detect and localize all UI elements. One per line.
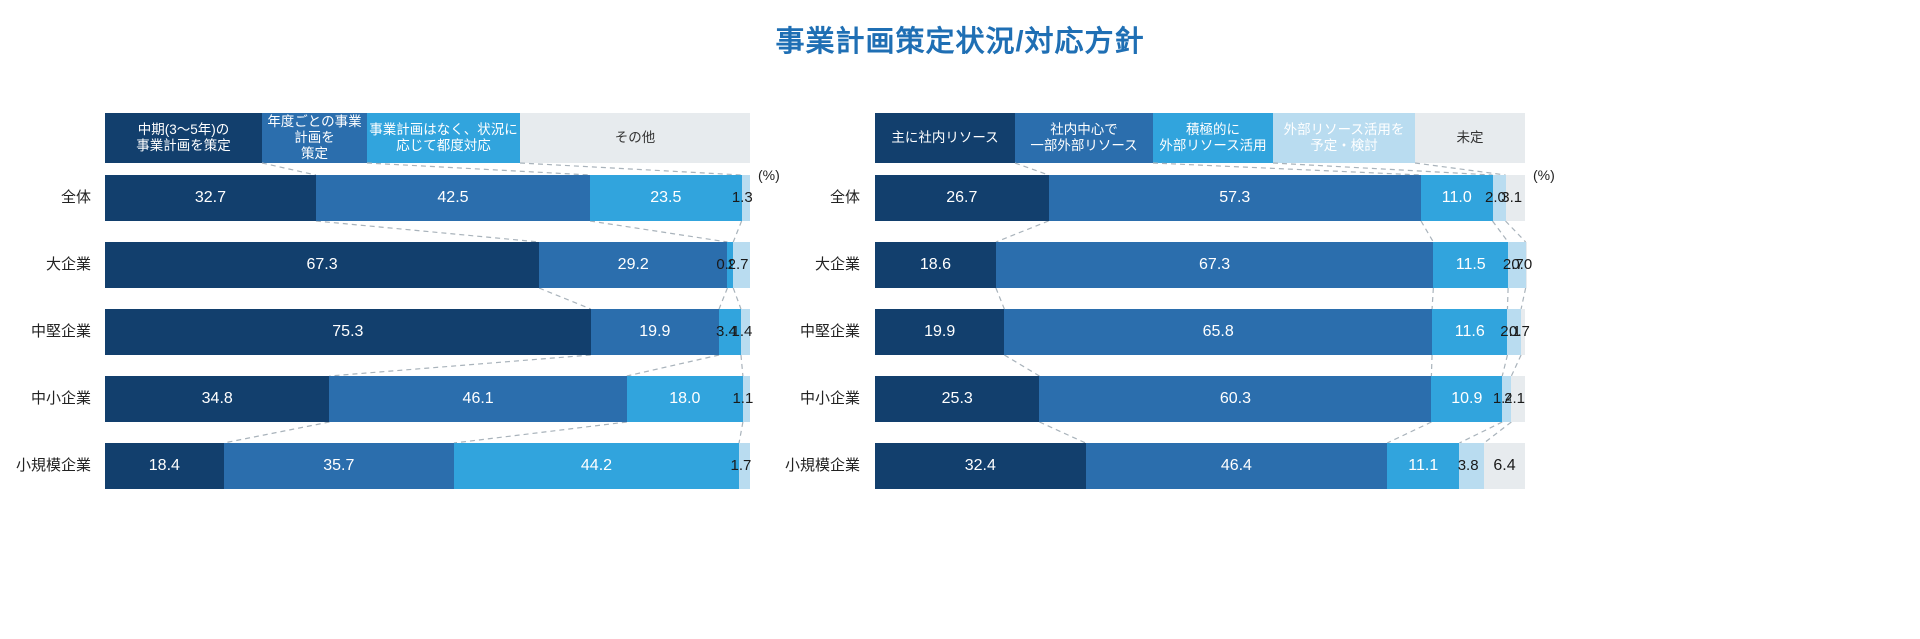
bar-value-label: 32.4: [965, 457, 996, 475]
bar-segment: 46.1: [329, 376, 626, 422]
bar-segment: 32.4: [875, 443, 1086, 489]
bar-value-label: 2.1: [1504, 390, 1525, 407]
bar-segment: 65.8: [1004, 309, 1432, 355]
bar-segment: 18.4: [105, 443, 224, 489]
bar-segment: 0.0: [1526, 242, 1527, 288]
chart-panel-right: 主に社内リソース社内中心で一部外部リソース積極的に外部リソース活用外部リソース活…: [830, 100, 1920, 520]
bar-segment: 67.3: [105, 242, 539, 288]
bar-value-label: 23.5: [650, 189, 681, 207]
bar-segment: 2.1: [1511, 376, 1525, 422]
bar-value-label: 6.4: [1493, 457, 1515, 475]
bar-value-label: 44.2: [581, 457, 612, 475]
bar-segment: 57.3: [1049, 175, 1421, 221]
bar-value-label: 11.0: [1442, 189, 1472, 207]
bar-segment: 10.9: [1431, 376, 1502, 422]
bar-value-label: 11.1: [1408, 457, 1438, 475]
bar-value-label: 19.9: [924, 323, 955, 341]
bar-value-label: 29.2: [618, 256, 649, 274]
row-label: 大企業: [0, 257, 91, 272]
row-label: 全体: [0, 190, 91, 205]
row-label: 小規模企業: [700, 458, 860, 473]
row-label: 中堅企業: [700, 324, 860, 339]
bar-value-label: 65.8: [1203, 323, 1234, 341]
bar-value-label: 67.3: [306, 256, 337, 274]
bar-value-label: 11.6: [1455, 323, 1485, 341]
bar-value-label: 26.7: [946, 189, 977, 207]
bar-value-label: 18.0: [669, 390, 700, 408]
bar-value-label: 60.3: [1220, 390, 1251, 408]
page-title: 事業計画策定状況/対応方針: [0, 18, 1920, 60]
row-label: 大企業: [700, 257, 860, 272]
bar-segment: 3.1: [1506, 175, 1526, 221]
bar-segment: 32.7: [105, 175, 316, 221]
bar-segment: 11.6: [1432, 309, 1507, 355]
bar-segment: 42.5: [316, 175, 590, 221]
bar-value-label: 46.4: [1221, 457, 1252, 475]
row-label: 小規模企業: [0, 458, 91, 473]
bar-segment: 25.3: [875, 376, 1039, 422]
chart-panel-left: 中期(3〜5年)の事業計画を策定年度ごとの事業計画を策定事業計画はなく、状況に応…: [0, 100, 850, 520]
bar-value-label: 0.7: [1509, 323, 1530, 340]
bar-value-label: 46.1: [463, 390, 494, 408]
bar-value-label: 18.6: [920, 256, 951, 274]
bar-value-label: 18.4: [149, 457, 180, 475]
bar-segment: 11.1: [1387, 443, 1459, 489]
bar-segment: 19.9: [875, 309, 1004, 355]
bar-value-label: 10.9: [1451, 390, 1482, 408]
bar-value-label: 32.7: [195, 189, 226, 207]
bar-segment: 6.4: [1484, 443, 1525, 489]
bar-segment: 67.3: [996, 242, 1433, 288]
bar-value-label: 42.5: [437, 189, 468, 207]
bar-value-label: 57.3: [1219, 189, 1250, 207]
bar-value-label: 35.7: [323, 457, 354, 475]
bar-segment: 26.7: [875, 175, 1049, 221]
bar-value-label: 25.3: [942, 390, 973, 408]
bar-value-label: 3.1: [1501, 189, 1522, 206]
row-label: 中堅企業: [0, 324, 91, 339]
bar-value-label: 0.0: [1511, 256, 1532, 273]
row-label: 中小企業: [0, 391, 91, 406]
row-label: 中小企業: [700, 391, 860, 406]
row-label: 全体: [700, 190, 860, 205]
bar-segment: 60.3: [1039, 376, 1431, 422]
bar-segment: 46.4: [1086, 443, 1388, 489]
bar-segment: 11.0: [1421, 175, 1493, 221]
bar-segment: 75.3: [105, 309, 591, 355]
bar-segment: 34.8: [105, 376, 329, 422]
bar-segment: 44.2: [454, 443, 739, 489]
bar-value-label: 11.5: [1456, 256, 1486, 274]
bar-value-label: 75.3: [332, 323, 363, 341]
bar-value-label: 3.8: [1458, 457, 1479, 474]
bar-segment: 3.8: [1459, 443, 1484, 489]
bar-segment: 35.7: [224, 443, 454, 489]
bar-value-label: 67.3: [1199, 256, 1230, 274]
bar-segment: 18.6: [875, 242, 996, 288]
bar-value-label: 34.8: [202, 390, 233, 408]
bar-value-label: 19.9: [639, 323, 670, 341]
bar-segment: 0.7: [1521, 309, 1525, 355]
bar-segment: 11.5: [1433, 242, 1508, 288]
